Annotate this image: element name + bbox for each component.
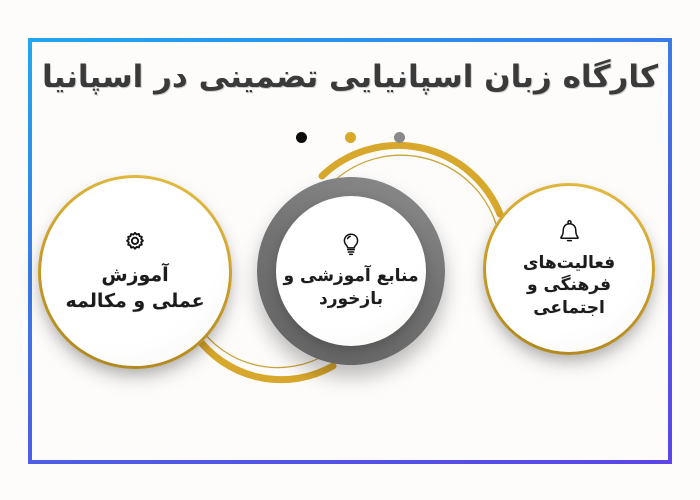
feature-circle-practical-training[interactable]: آموزش عملی و مکالمه	[38, 175, 232, 369]
dot-black	[296, 132, 307, 143]
feature-circle-1-disc: آموزش عملی و مکالمه	[41, 178, 229, 366]
lightbulb-icon	[339, 232, 363, 258]
feature-circle-3-disc: فعالیت‌های فرهنگی و اجتماعی	[486, 186, 652, 352]
feature-circle-cultural-activities[interactable]: فعالیت‌های فرهنگی و اجتماعی	[483, 183, 655, 355]
page-title: کارگاه زبان اسپانیایی تضمینی در اسپانیا	[28, 58, 672, 97]
feature-circle-1-label: آموزش عملی و مکالمه	[65, 263, 204, 313]
dot-gold	[345, 132, 356, 143]
feature-2-line-1: منابع آموزشی و	[284, 265, 419, 287]
feature-circle-2-label: منابع آموزشی و بازخورد	[284, 265, 419, 310]
feature-3-line-2: فرهنگی و	[523, 274, 615, 296]
feature-1-line-2: عملی و مکالمه	[65, 289, 204, 314]
feature-circle-resources-feedback[interactable]: منابع آموزشی و بازخورد	[257, 177, 445, 365]
feature-3-line-1: فعالیت‌های	[523, 252, 615, 274]
dot-separator-group	[0, 132, 700, 143]
feature-2-line-2: بازخورد	[284, 288, 419, 310]
bell-icon	[557, 219, 582, 245]
feature-circle-2-disc: منابع آموزشی و بازخورد	[276, 196, 426, 346]
feature-circle-3-label: فعالیت‌های فرهنگی و اجتماعی	[523, 252, 615, 319]
dot-gray	[394, 132, 405, 143]
slide-canvas: کارگاه زبان اسپانیایی تضمینی در اسپانیا	[0, 0, 700, 500]
feature-1-line-1: آموزش	[65, 263, 204, 288]
gear-icon	[122, 230, 148, 256]
feature-3-line-3: اجتماعی	[523, 297, 615, 319]
